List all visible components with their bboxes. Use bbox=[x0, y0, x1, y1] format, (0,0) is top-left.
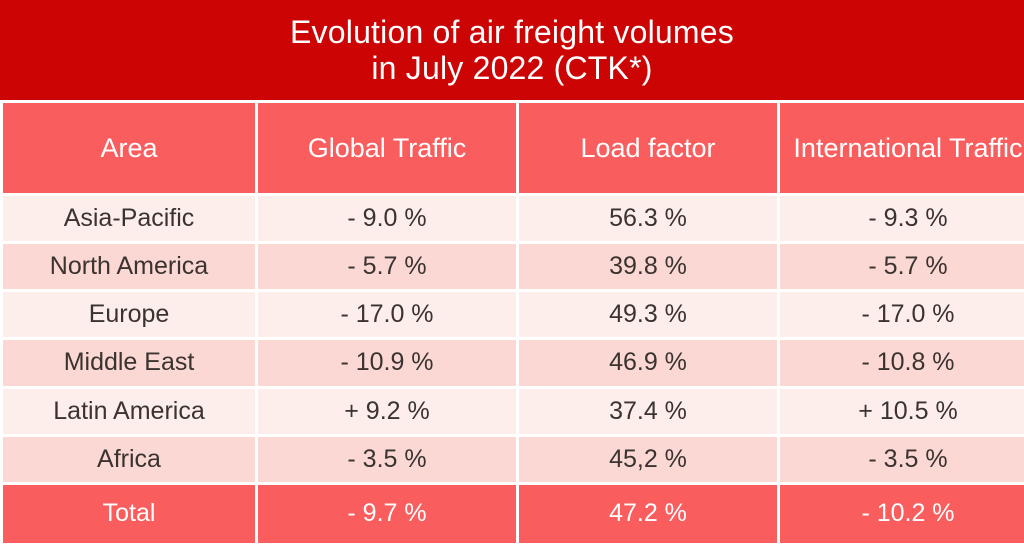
table-row: Europe - 17.0 % 49.3 % - 17.0 % bbox=[3, 292, 1024, 337]
cell-area: Europe bbox=[3, 292, 255, 337]
column-header-international-traffic: International Traffic bbox=[780, 103, 1024, 193]
table-row: North America - 5.7 % 39.8 % - 5.7 % bbox=[3, 244, 1024, 289]
cell-total-load-factor: 47.2 % bbox=[519, 485, 777, 543]
title-banner: Evolution of air freight volumes in July… bbox=[0, 0, 1024, 100]
cell-global-traffic: - 9.0 % bbox=[258, 196, 516, 241]
table-row: Middle East - 10.9 % 46.9 % - 10.8 % bbox=[3, 340, 1024, 385]
cell-load-factor: 49.3 % bbox=[519, 292, 777, 337]
cell-area: Latin America bbox=[3, 389, 255, 434]
cell-load-factor: 37.4 % bbox=[519, 389, 777, 434]
title-line-2: in July 2022 (CTK*) bbox=[371, 50, 652, 86]
cell-area: North America bbox=[3, 244, 255, 289]
air-freight-table: Area Global Traffic Load factor Internat… bbox=[0, 100, 1024, 546]
cell-load-factor: 56.3 % bbox=[519, 196, 777, 241]
table-row: Asia-Pacific - 9.0 % 56.3 % - 9.3 % bbox=[3, 196, 1024, 241]
column-header-global-traffic: Global Traffic bbox=[258, 103, 516, 193]
table-row: Latin America + 9.2 % 37.4 % + 10.5 % bbox=[3, 389, 1024, 434]
cell-total-international-traffic: - 10.2 % bbox=[780, 485, 1024, 543]
cell-international-traffic: + 10.5 % bbox=[780, 389, 1024, 434]
cell-total-label: Total bbox=[3, 485, 255, 543]
cell-international-traffic: - 10.8 % bbox=[780, 340, 1024, 385]
cell-international-traffic: - 5.7 % bbox=[780, 244, 1024, 289]
cell-area: Africa bbox=[3, 437, 255, 482]
table-header: Area Global Traffic Load factor Internat… bbox=[3, 103, 1024, 193]
title-line-1: Evolution of air freight volumes bbox=[290, 14, 734, 50]
air-freight-infographic: Evolution of air freight volumes in July… bbox=[0, 0, 1024, 546]
table-body: Asia-Pacific - 9.0 % 56.3 % - 9.3 % Nort… bbox=[3, 196, 1024, 543]
cell-total-global-traffic: - 9.7 % bbox=[258, 485, 516, 543]
cell-global-traffic: - 17.0 % bbox=[258, 292, 516, 337]
cell-load-factor: 46.9 % bbox=[519, 340, 777, 385]
cell-global-traffic: + 9.2 % bbox=[258, 389, 516, 434]
cell-area: Middle East bbox=[3, 340, 255, 385]
cell-international-traffic: - 17.0 % bbox=[780, 292, 1024, 337]
cell-area: Asia-Pacific bbox=[3, 196, 255, 241]
cell-load-factor: 45,2 % bbox=[519, 437, 777, 482]
cell-global-traffic: - 3.5 % bbox=[258, 437, 516, 482]
cell-international-traffic: - 9.3 % bbox=[780, 196, 1024, 241]
cell-global-traffic: - 10.9 % bbox=[258, 340, 516, 385]
cell-global-traffic: - 5.7 % bbox=[258, 244, 516, 289]
cell-load-factor: 39.8 % bbox=[519, 244, 777, 289]
column-header-area: Area bbox=[3, 103, 255, 193]
table-total-row: Total - 9.7 % 47.2 % - 10.2 % bbox=[3, 485, 1024, 543]
column-header-load-factor: Load factor bbox=[519, 103, 777, 193]
table-row: Africa - 3.5 % 45,2 % - 3.5 % bbox=[3, 437, 1024, 482]
table-header-row: Area Global Traffic Load factor Internat… bbox=[3, 103, 1024, 193]
cell-international-traffic: - 3.5 % bbox=[780, 437, 1024, 482]
